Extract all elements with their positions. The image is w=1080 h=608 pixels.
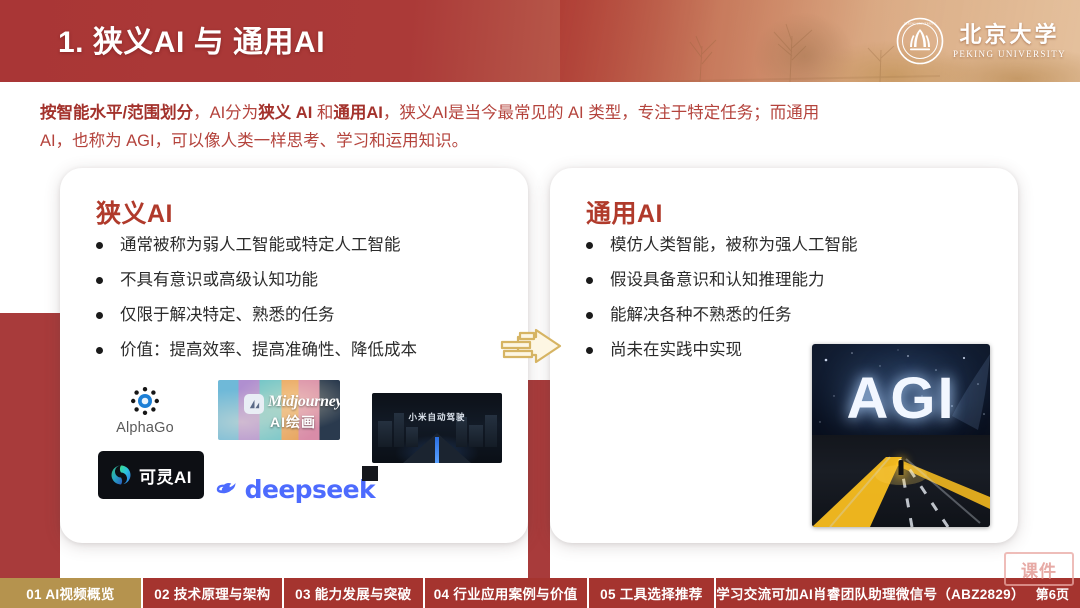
agi-road-night-image: AGI <box>812 344 990 527</box>
logo-deepseek: deepseek <box>215 470 375 508</box>
alphago-icon <box>130 386 160 416</box>
left-red-decor-block <box>0 313 60 578</box>
deepseek-dark-corner <box>362 466 378 481</box>
footer-nav: 01 AI视频概览 02 技术原理与架构 03 能力发展与突破 04 行业应用案… <box>0 578 1080 608</box>
list-item: 价值：提高效率、提高准确性、降低成本 <box>90 338 500 362</box>
footer-item-04[interactable]: 04 行业应用案例与价值 <box>425 578 589 608</box>
lead-text-2: 和 <box>312 104 333 122</box>
middle-red-decor-bar <box>528 380 550 578</box>
deepseek-label: deepseek <box>245 475 375 504</box>
deepseek-whale-icon <box>215 476 237 502</box>
lead-text-4: AI，也称为 AGI，可以像人类一样思考、学习和运用知识。 <box>40 132 468 150</box>
lead-paragraph: 按智能水平/范围划分，AI分为狭义 AI 和通用AI，狭义AI是当今最常见的 A… <box>40 99 1040 155</box>
footer-item-05[interactable]: 05 工具选择推荐 <box>589 578 717 608</box>
agi-road-lines <box>812 431 990 527</box>
list-item: 仅限于解决特定、熟悉的任务 <box>90 303 500 327</box>
pku-logo-cn: 北京大学 <box>959 23 1059 46</box>
card-narrow-ai-bullets: 通常被称为弱人工智能或特定人工智能 不具有意识或高级认知功能 仅限于解决特定、熟… <box>90 233 500 373</box>
pku-seal-icon: PEKING UNIVERSITY <box>896 17 944 65</box>
logo-xiaomi-autodrive: 小米自动驾驶 <box>372 393 502 463</box>
logo-alphago: AlphaGo <box>102 380 188 442</box>
xiaomi-label: 小米自动驾驶 <box>372 411 502 423</box>
alphago-label: AlphaGo <box>116 420 174 436</box>
page-title: 1. 狭义AI 与 通用AI <box>58 17 325 61</box>
pku-logo-en: PEKING UNIVERSITY <box>953 49 1066 59</box>
footer-item-01[interactable]: 01 AI视频概览 <box>0 578 143 608</box>
midjourney-label: Midjourney <box>268 393 340 411</box>
lead-bold-2: 狭义 AI <box>258 104 312 122</box>
list-item: 不具有意识或高级认知功能 <box>90 268 500 292</box>
card-general-ai-title: 通用AI <box>586 194 663 230</box>
agi-figure-silhouette <box>899 460 904 475</box>
pku-logo: PEKING UNIVERSITY 北京大学 PEKING UNIVERSITY <box>896 14 1066 68</box>
footer-item-03[interactable]: 03 能力发展与突破 <box>284 578 425 608</box>
midjourney-sail-icon <box>244 394 264 414</box>
lead-bold-1: 按智能水平/范围划分 <box>40 104 193 122</box>
logo-midjourney: Midjourney AI绘画 <box>218 380 340 440</box>
right-arrow-icon <box>498 318 586 374</box>
kling-ring-icon <box>110 464 132 486</box>
watermark-text: 课件 <box>1021 557 1057 582</box>
slide-header: 1. 狭义AI 与 通用AI PEKING UNIVERSITY 北京大学 PE… <box>0 0 1080 82</box>
logo-kling: 可灵AI <box>98 451 204 499</box>
lead-text-1: ，AI分为 <box>193 104 258 122</box>
lead-bold-3: 通用AI <box>333 104 383 122</box>
agi-word: AGI <box>812 370 990 428</box>
midjourney-sublabel: AI绘画 <box>270 412 316 432</box>
card-narrow-ai-title: 狭义AI <box>96 194 173 230</box>
list-item: 模仿人类智能，被称为强人工智能 <box>580 233 990 257</box>
list-item: 能解决各种不熟悉的任务 <box>580 303 990 327</box>
xiaomi-lane-highlight <box>435 437 439 463</box>
list-item: 假设具备意识和认知推理能力 <box>580 268 990 292</box>
slide-root: 1. 狭义AI 与 通用AI PEKING UNIVERSITY 北京大学 PE… <box>0 0 1080 608</box>
lead-text-3: ，狭义AI是当今最常见的 AI 类型，专注于特定任务；而通用 <box>383 104 819 122</box>
footer-note: 学习交流可加AI肖睿团队助理微信号（ABZ2829） <box>716 578 1025 608</box>
list-item: 通常被称为弱人工智能或特定人工智能 <box>90 233 500 257</box>
svg-text:PEKING UNIVERSITY: PEKING UNIVERSITY <box>904 22 936 26</box>
kling-label: 可灵AI <box>139 463 192 488</box>
watermark: 课件 <box>1004 552 1074 586</box>
footer-item-02[interactable]: 02 技术原理与架构 <box>143 578 284 608</box>
